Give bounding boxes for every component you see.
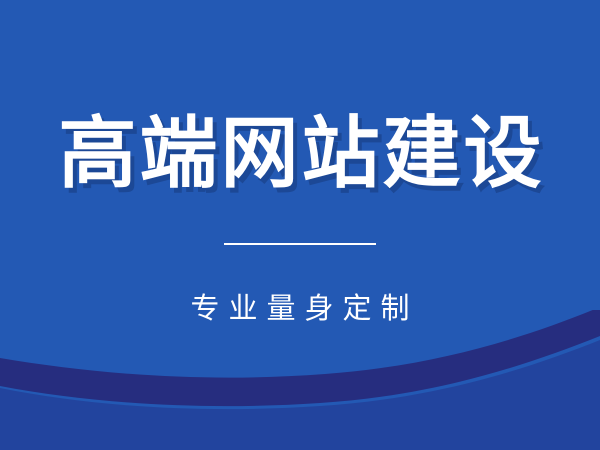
divider-rule [224,243,376,245]
subtitle-text: 专业量身定制 [0,294,600,326]
headline-text: 高端网站建设 [0,114,600,192]
banner-content: 高端网站建设 专业量身定制 [0,0,600,450]
promo-banner: 高端网站建设 专业量身定制 [0,0,600,450]
